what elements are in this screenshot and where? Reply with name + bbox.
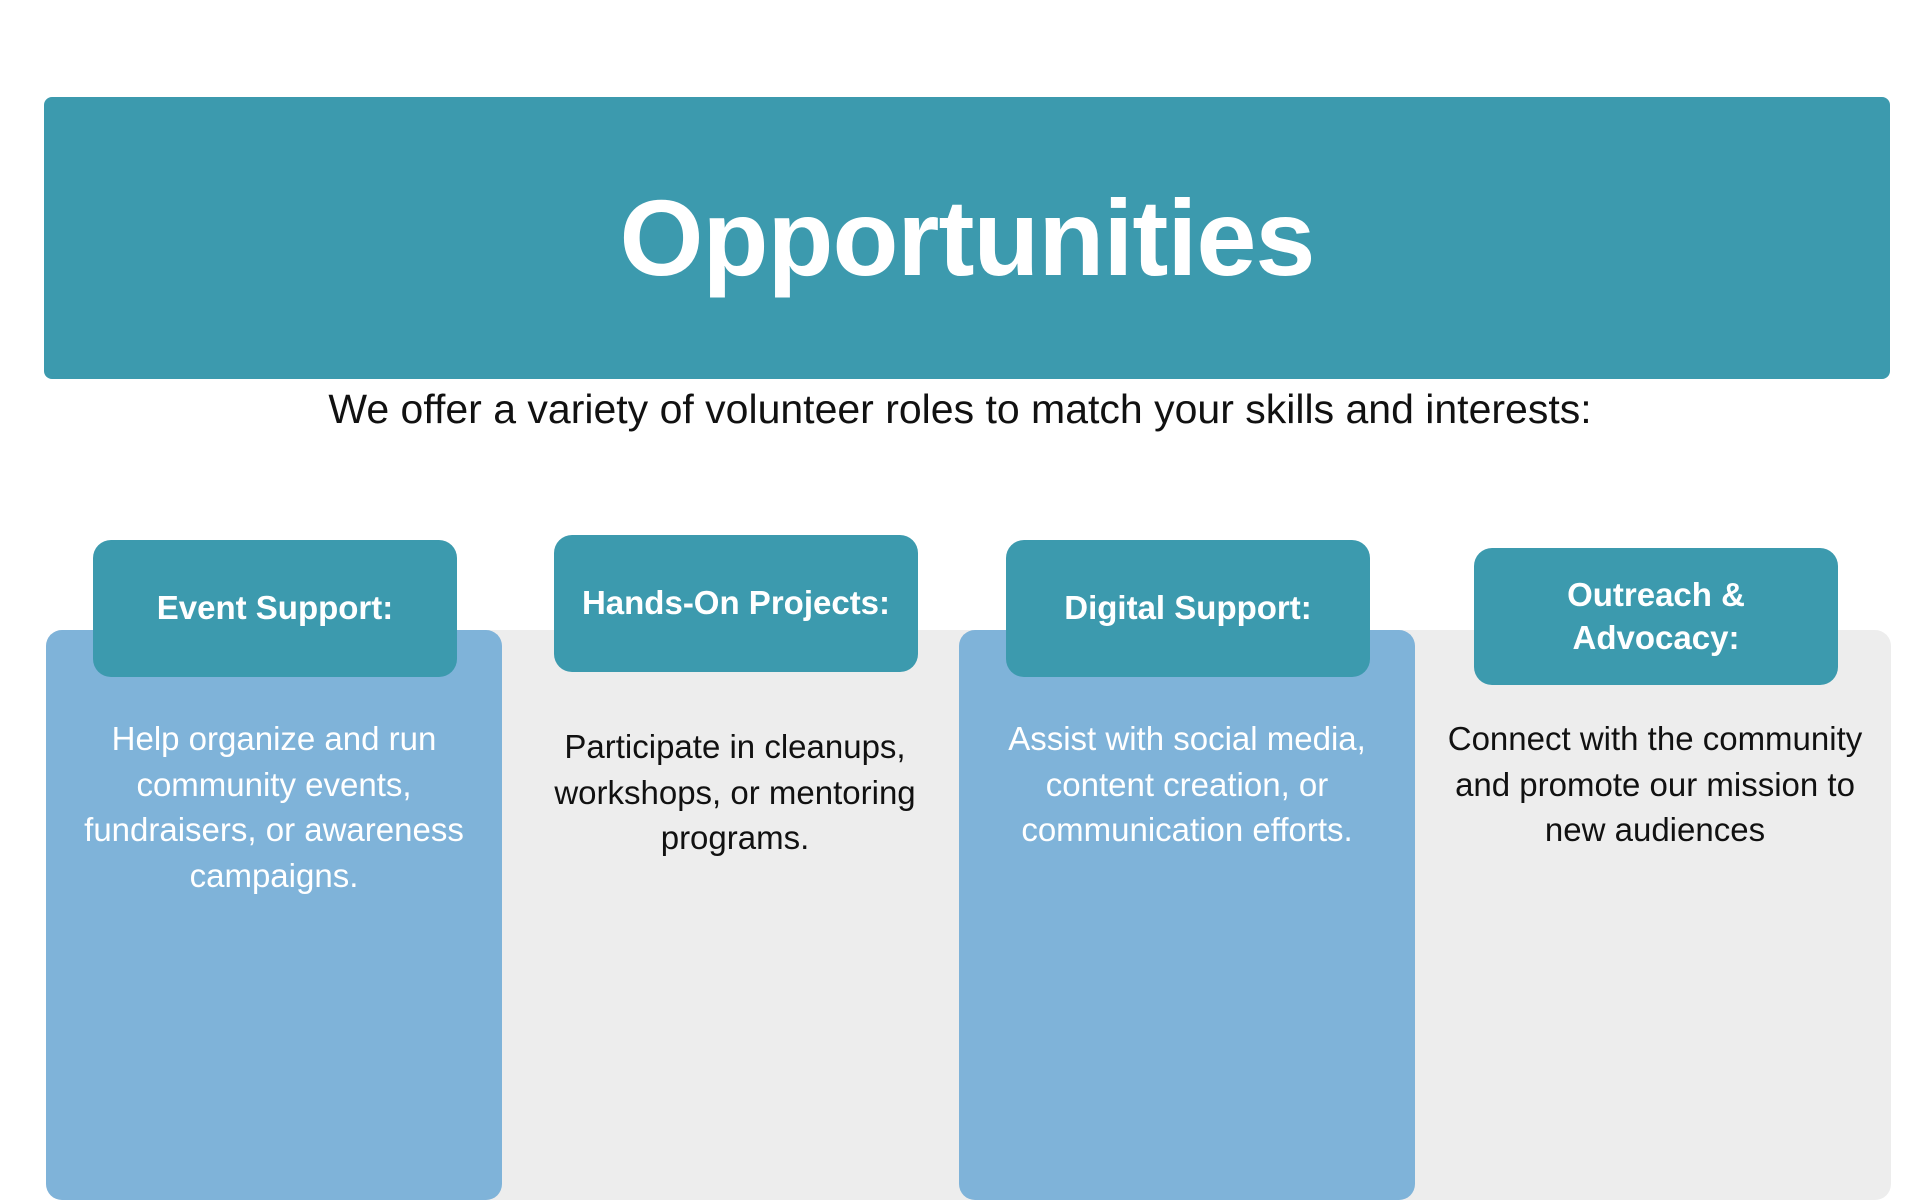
card-title: Event Support: — [157, 587, 394, 629]
opportunity-card-outreach-advocacy[interactable]: Outreach & Advocacy: Connect with the co… — [1427, 540, 1883, 1200]
opportunity-card-hands-on-projects[interactable]: Hands-On Projects: Participate in cleanu… — [507, 540, 963, 1200]
card-header-pill: Event Support: — [93, 540, 457, 677]
slide-canvas: Opportunities We offer a variety of volu… — [0, 0, 1920, 1080]
subtitle-text: We offer a variety of volunteer roles to… — [0, 383, 1920, 436]
card-title: Hands-On Projects: — [582, 582, 890, 624]
card-description: Assist with social media, content creati… — [969, 716, 1405, 853]
card-header-pill: Digital Support: — [1006, 540, 1370, 677]
card-title: Digital Support: — [1064, 587, 1311, 629]
title-banner: Opportunities — [44, 97, 1890, 379]
opportunity-card-digital-support[interactable]: Digital Support: Assist with social medi… — [959, 540, 1415, 1200]
card-description: Participate in cleanups, workshops, or m… — [517, 724, 953, 861]
card-description: Help organize and run community events, … — [56, 716, 492, 898]
card-header-pill: Hands-On Projects: — [554, 535, 918, 672]
card-body-panel — [507, 630, 963, 1200]
card-title: Outreach & Advocacy: — [1484, 574, 1828, 658]
card-description: Connect with the community and promote o… — [1437, 716, 1873, 853]
opportunity-cards-row: Event Support: Help organize and run com… — [46, 540, 1891, 1200]
opportunity-card-event-support[interactable]: Event Support: Help organize and run com… — [46, 540, 502, 1200]
page-title: Opportunities — [620, 181, 1315, 294]
card-header-pill: Outreach & Advocacy: — [1474, 548, 1838, 685]
